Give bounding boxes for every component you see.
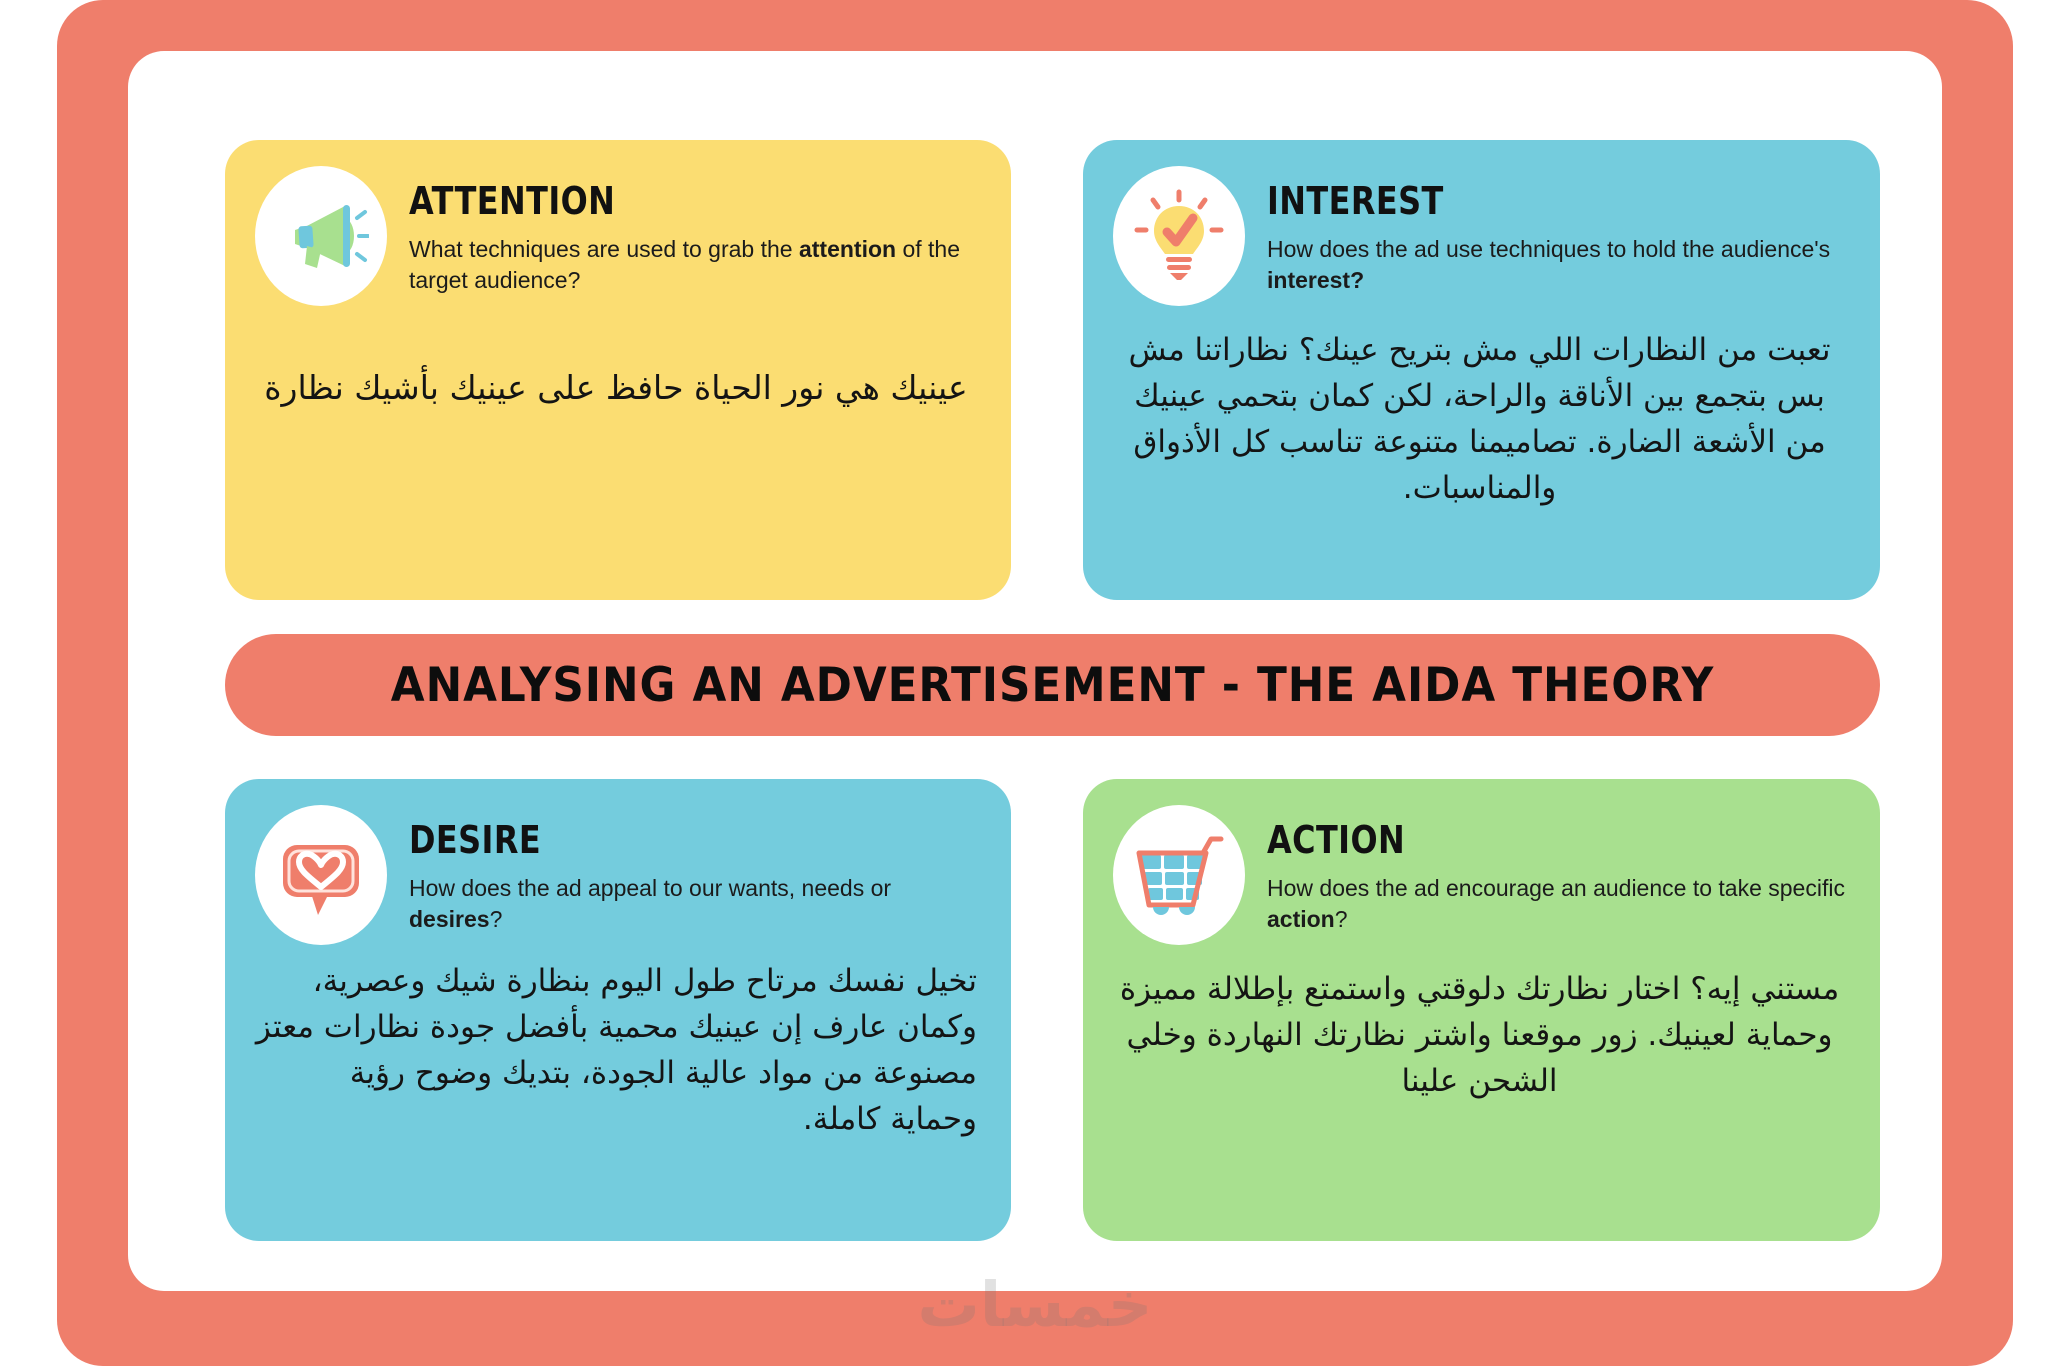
poster-root: ATTENTION What techniques are used to gr… bbox=[0, 0, 2070, 1366]
card-title-desire: DESIRE bbox=[409, 821, 886, 859]
card-header: ATTENTION What techniques are used to gr… bbox=[255, 166, 977, 306]
heart-speech-bubble-icon bbox=[255, 805, 387, 945]
question-bold: action bbox=[1267, 906, 1335, 932]
card-body-attention: عينيك هي نور الحياة حافظ على عينيك بأشيك… bbox=[255, 364, 977, 413]
card-interest: INTEREST How does the ad use techniques … bbox=[1083, 140, 1880, 600]
question-post: ? bbox=[1335, 906, 1348, 932]
card-body-desire: تخيل نفسك مرتاح طول اليوم بنظارة شيك وعص… bbox=[255, 959, 977, 1143]
card-question-interest: How does the ad use techniques to hold t… bbox=[1267, 234, 1846, 295]
question-pre: How does the ad use techniques to hold t… bbox=[1267, 236, 1830, 262]
card-question-desire: How does the ad appeal to our wants, nee… bbox=[409, 873, 977, 934]
card-header-text: ATTENTION What techniques are used to gr… bbox=[409, 166, 977, 295]
banner: ANALYSING AN ADVERTISEMENT - THE AIDA TH… bbox=[225, 634, 1880, 736]
banner-title: ANALYSING AN ADVERTISEMENT - THE AIDA TH… bbox=[391, 658, 1714, 713]
card-body-interest: تعبت من النظارات اللي مش بتريح عينك؟ نظا… bbox=[1113, 328, 1846, 512]
question-pre: How does the ad appeal to our wants, nee… bbox=[409, 875, 891, 901]
card-question-attention: What techniques are used to grab the att… bbox=[409, 234, 977, 295]
card-title-interest: INTEREST bbox=[1267, 182, 1753, 220]
lightbulb-icon bbox=[1113, 166, 1245, 306]
question-bold: attention bbox=[799, 236, 896, 262]
question-pre: How does the ad encourage an audience to… bbox=[1267, 875, 1845, 901]
card-desire: DESIRE How does the ad appeal to our wan… bbox=[225, 779, 1011, 1241]
card-header: DESIRE How does the ad appeal to our wan… bbox=[255, 805, 977, 945]
card-title-action: ACTION bbox=[1267, 821, 1753, 859]
card-header-text: INTEREST How does the ad use techniques … bbox=[1267, 166, 1846, 295]
card-header-text: DESIRE How does the ad appeal to our wan… bbox=[409, 805, 977, 934]
question-post: ? bbox=[490, 906, 503, 932]
question-bold: interest? bbox=[1267, 267, 1364, 293]
question-bold: desires bbox=[409, 906, 490, 932]
shopping-cart-icon bbox=[1113, 805, 1245, 945]
megaphone-icon bbox=[255, 166, 387, 306]
card-header: ACTION How does the ad encourage an audi… bbox=[1113, 805, 1846, 945]
card-question-action: How does the ad encourage an audience to… bbox=[1267, 873, 1846, 934]
card-action: ACTION How does the ad encourage an audi… bbox=[1083, 779, 1880, 1241]
card-title-attention: ATTENTION bbox=[409, 182, 886, 220]
card-body-action: مستني إيه؟ اختار نظارتك دلوقتي واستمتع ب… bbox=[1113, 967, 1846, 1105]
card-header-text: ACTION How does the ad encourage an audi… bbox=[1267, 805, 1846, 934]
question-pre: What techniques are used to grab the bbox=[409, 236, 799, 262]
card-header: INTEREST How does the ad use techniques … bbox=[1113, 166, 1846, 306]
card-attention: ATTENTION What techniques are used to gr… bbox=[225, 140, 1011, 600]
